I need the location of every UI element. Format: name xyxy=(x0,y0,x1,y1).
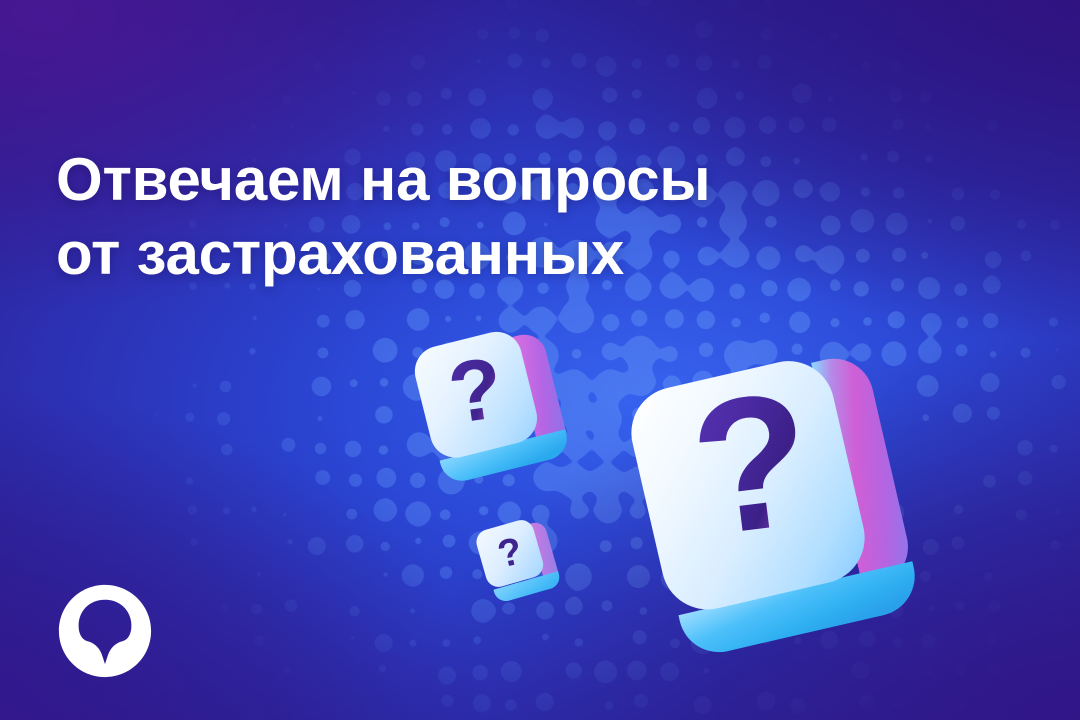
headline: Отвечаем на вопросы от застрахованных xyxy=(56,143,816,291)
brand-logo[interactable] xyxy=(57,583,153,679)
cube-medium: ? xyxy=(398,318,576,494)
logo-icon xyxy=(57,583,153,679)
cube-large: ? xyxy=(610,352,940,662)
cube-small: ? xyxy=(468,512,560,604)
banner-canvas: ? xyxy=(0,0,1080,720)
